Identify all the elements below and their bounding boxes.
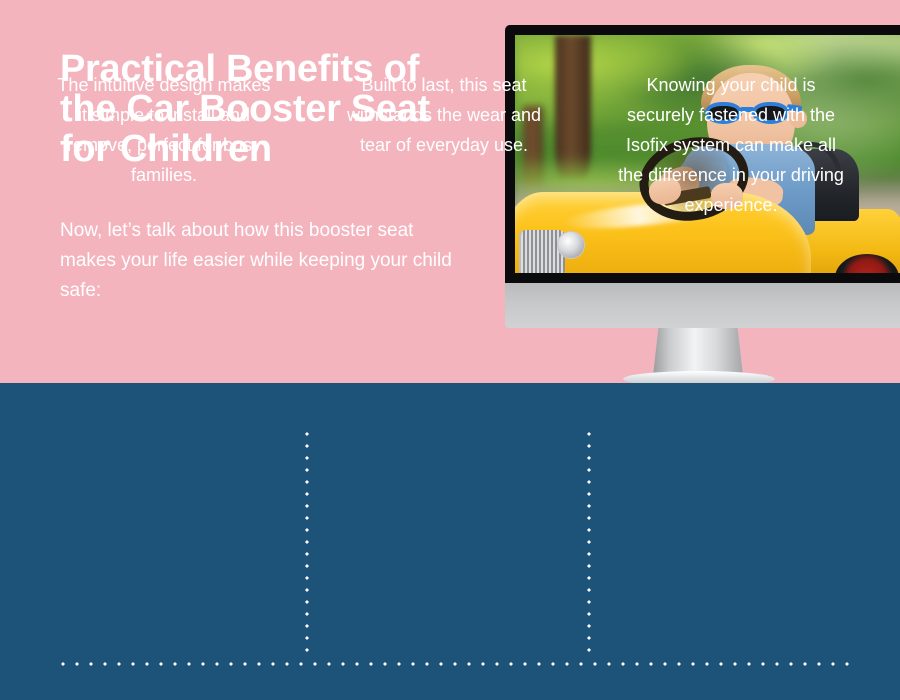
benefit-text: Knowing your child is securely fastened … <box>618 75 844 215</box>
benefit-column-easy-install: The intuitive design makes it simple to … <box>56 70 272 190</box>
benefit-text: The intuitive design makes it simple to … <box>57 75 270 185</box>
benefits-columns: The intuitive design makes it simple to … <box>0 0 900 317</box>
benefit-column-durability: Built to last, this seat withstands the … <box>336 70 552 160</box>
infographic-root: Practical Benefits of the Car Booster Se… <box>0 0 900 700</box>
bottom-blue-panel <box>0 383 900 700</box>
monitor-stand-neck <box>653 328 743 376</box>
benefit-text: Built to last, this seat withstands the … <box>347 75 541 155</box>
benefit-column-isofix-safety: Knowing your child is securely fastened … <box>618 70 844 220</box>
column-divider-right <box>587 428 591 654</box>
column-divider-left <box>305 428 309 654</box>
footer-divider <box>56 662 852 666</box>
